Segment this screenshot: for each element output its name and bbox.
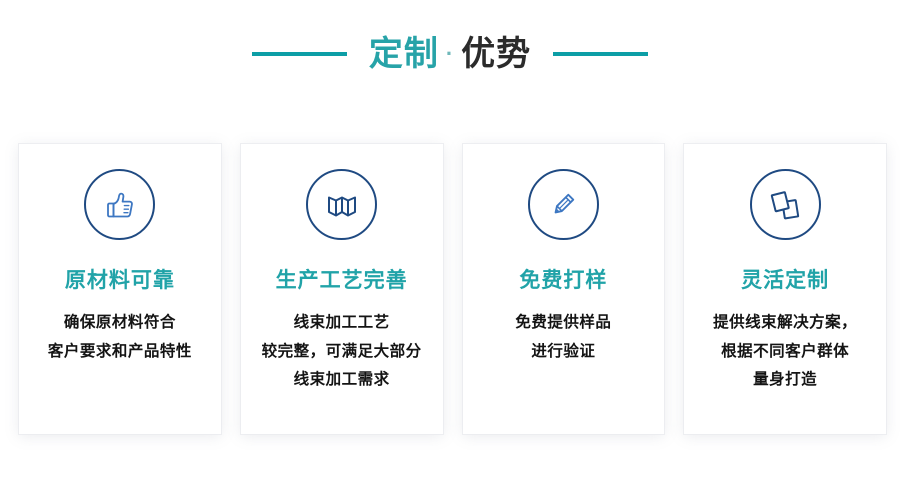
page-title: 定制 · 优势 <box>369 37 531 71</box>
feature-card-desc-line: 较完整，可满足大部分 <box>262 338 422 367</box>
feature-card-desc-line: 线束加工工艺 <box>262 309 422 338</box>
feature-card-title: 灵活定制 <box>741 270 829 291</box>
feature-card-title: 免费打样 <box>519 270 607 291</box>
feature-card-desc-line: 线束加工需求 <box>262 366 422 395</box>
feature-card-desc-line: 客户要求和产品特性 <box>48 338 192 367</box>
feature-card-title: 原材料可靠 <box>65 270 175 291</box>
feature-card[interactable]: 生产工艺完善 线束加工工艺 较完整，可满足大部分 线束加工需求 <box>241 144 443 434</box>
feature-card-title: 生产工艺完善 <box>276 270 408 291</box>
feature-card-desc-line: 根据不同客户群体 <box>713 338 857 367</box>
thumbs-up-icon <box>84 169 155 240</box>
feature-card[interactable]: 免费打样 免费提供样品 进行验证 <box>463 144 665 434</box>
page-title-separator: · <box>439 43 461 65</box>
feature-card-desc-line: 免费提供样品 <box>515 309 611 338</box>
feature-card-description: 免费提供样品 进行验证 <box>515 309 611 366</box>
title-rule-left <box>252 52 347 56</box>
stacked-cards-icon <box>750 169 821 240</box>
feature-card-description: 提供线束解决方案， 根据不同客户群体 量身打造 <box>713 309 857 395</box>
feature-card-list: 原材料可靠 确保原材料符合 客户要求和产品特性 生产工艺完善 线束加工工艺 较完… <box>19 144 886 434</box>
feature-card-desc-line: 进行验证 <box>515 338 611 367</box>
feature-card-description: 线束加工工艺 较完整，可满足大部分 线束加工需求 <box>262 309 422 395</box>
folded-map-icon <box>306 169 377 240</box>
page-title-plain: 优势 <box>461 37 531 71</box>
feature-card-desc-line: 确保原材料符合 <box>48 309 192 338</box>
feature-card-description: 确保原材料符合 客户要求和产品特性 <box>48 309 192 366</box>
page-title-accent: 定制 <box>369 37 439 71</box>
pencil-icon <box>528 169 599 240</box>
feature-card[interactable]: 原材料可靠 确保原材料符合 客户要求和产品特性 <box>19 144 221 434</box>
section-title: 定制 · 优势 <box>0 28 900 80</box>
feature-card-desc-line: 提供线束解决方案， <box>713 309 857 338</box>
title-rule-right <box>553 52 648 56</box>
feature-card[interactable]: 灵活定制 提供线束解决方案， 根据不同客户群体 量身打造 <box>684 144 886 434</box>
feature-card-desc-line: 量身打造 <box>713 366 857 395</box>
